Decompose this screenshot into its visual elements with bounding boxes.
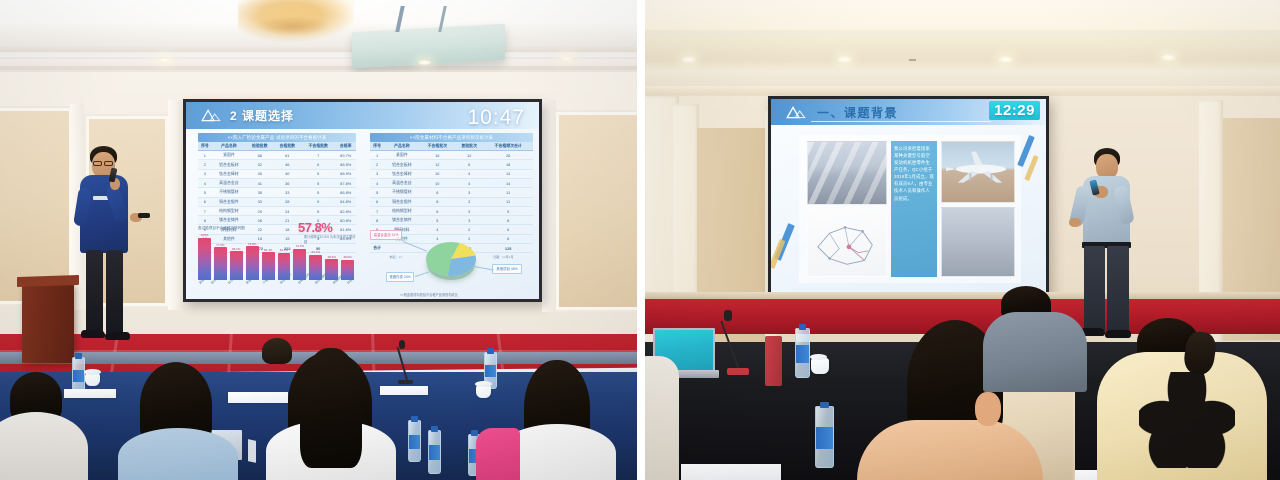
wall-pilaster bbox=[542, 100, 556, 312]
table-cell: 28 bbox=[274, 197, 301, 206]
water-bottle bbox=[72, 357, 85, 393]
table-cell: 80.8% bbox=[335, 216, 356, 225]
table-cell: 铝合金板材 bbox=[212, 160, 246, 169]
audience-white-sleeve bbox=[645, 356, 679, 480]
table-row: 3钛合金棒材10414 bbox=[370, 169, 533, 178]
table-caption-right: ××院金属材料不合格产品项目频次统计表 bbox=[370, 133, 533, 142]
table-cell: 28 bbox=[483, 151, 533, 160]
th: 检验批数 bbox=[246, 142, 273, 151]
water-bottle bbox=[815, 406, 834, 468]
table-cell: 5 bbox=[301, 197, 335, 206]
th: 产品名称 bbox=[212, 142, 246, 151]
table-cell: 镁合金铸件 bbox=[212, 216, 246, 225]
yellow-diagonal-stripe bbox=[1024, 155, 1038, 181]
table-cell: 4 bbox=[455, 169, 483, 178]
table-cell: 高温合金丝 bbox=[384, 179, 419, 188]
ceiling-trim bbox=[0, 52, 637, 57]
mountain-logo-icon bbox=[785, 105, 807, 120]
table-cell: 铝合金板材 bbox=[384, 160, 419, 169]
callout-leader bbox=[403, 241, 427, 251]
th: 产品名称 bbox=[384, 142, 419, 151]
table-cell: 5 bbox=[301, 188, 335, 197]
table-cell: 87.8% bbox=[335, 179, 356, 188]
table-cell: 82.8% bbox=[335, 206, 356, 215]
photo-engine-part bbox=[941, 207, 1015, 277]
ceiling-cove bbox=[645, 0, 1280, 30]
table-row: 2铝合金板材12618 bbox=[370, 160, 533, 169]
audience-hand bbox=[975, 392, 1001, 426]
table-cell: 14 bbox=[483, 179, 533, 188]
table-row: 7结构钢型材639 bbox=[370, 206, 533, 215]
table-row: 6铜合金锻件3328584.8% bbox=[198, 197, 356, 206]
bar-value-label: 48.0% bbox=[343, 255, 352, 259]
panel-divider bbox=[637, 0, 645, 480]
table-cell: 38 bbox=[246, 188, 273, 197]
table-cell: 21 bbox=[274, 216, 301, 225]
table-cell: 33 bbox=[246, 197, 273, 206]
highlight-note: 累计频率达57.8% 为本次改进主要问题 bbox=[304, 235, 358, 245]
table-cell: 88.9% bbox=[335, 169, 356, 178]
table-cell: 5 bbox=[370, 188, 384, 197]
table-cell: 26 bbox=[246, 216, 273, 225]
table-cell: 8 bbox=[420, 197, 455, 206]
audience-shirt-graphic bbox=[1139, 372, 1235, 468]
photo-aircraft bbox=[941, 141, 1015, 203]
aircraft-shape bbox=[942, 142, 1014, 202]
table-cell: 12 bbox=[455, 151, 483, 160]
table-row: 3钛合金棒材4540588.9% bbox=[198, 169, 356, 178]
table-cell: 89.7% bbox=[335, 151, 356, 160]
water-bottle bbox=[428, 430, 441, 474]
map-lines bbox=[808, 208, 886, 276]
table-cell: 4 bbox=[455, 179, 483, 188]
table-cell: 6 bbox=[370, 197, 384, 206]
pie-callout-1: 高温合金丝 31% bbox=[370, 230, 402, 240]
table-cell: 紧固件 bbox=[384, 151, 419, 160]
red-thermos bbox=[765, 336, 782, 386]
table-caption-left: ××院入厂检验金属产品·试验项目的不合格统计表 bbox=[198, 133, 356, 142]
th: 不合格批数 bbox=[301, 142, 335, 151]
table-row: 5不锈钢管材3833586.8% bbox=[198, 188, 356, 197]
table-cell: 5 bbox=[301, 206, 335, 215]
table-cell: 18 bbox=[483, 160, 533, 169]
projection-screen-right: 一、课题背景 12:29 bbox=[768, 96, 1049, 304]
table-cell: 5 bbox=[198, 188, 212, 197]
table-row: 2铝合金板材5246688.5% bbox=[198, 160, 356, 169]
table-cell: 41 bbox=[246, 179, 273, 188]
table-cell: 高温合金丝 bbox=[212, 179, 246, 188]
paper-document bbox=[380, 386, 428, 395]
projection-screen-left: 2 课题选择 10:47 ××院入厂检验金属产品·试验项目的不合格统计表 序号 … bbox=[183, 99, 542, 302]
table-cell: 10 bbox=[420, 169, 455, 178]
paper-document bbox=[64, 389, 116, 398]
bar bbox=[198, 238, 211, 280]
table-row: 4高温合金丝4136587.8% bbox=[198, 179, 356, 188]
th: 不合格批次 bbox=[420, 142, 455, 151]
tea-cup bbox=[811, 358, 829, 374]
table-cell: 紧固件 bbox=[212, 151, 246, 160]
bar-chart-axis-labels: 紧固件铝合金板材钛合金棒材高温合金丝不锈钢管材铜合金锻件结构钢型材镁合金铸件焊接… bbox=[198, 282, 354, 286]
presenter-clicker bbox=[138, 213, 150, 218]
downlight-icon bbox=[418, 60, 431, 65]
bar-value-label: 79.8% bbox=[248, 242, 257, 246]
table-cell: 45 bbox=[246, 169, 273, 178]
table-cell: 3 bbox=[455, 188, 483, 197]
table-cell: 6 bbox=[455, 160, 483, 169]
table-row: 1紧固件6861789.7% bbox=[198, 151, 356, 160]
paper-document bbox=[681, 464, 781, 480]
th: 不合格频次合计 bbox=[483, 142, 533, 151]
bar-value-label: 48.6% bbox=[327, 255, 336, 259]
table-row: 1紧固件161228 bbox=[370, 151, 533, 160]
water-bottle bbox=[408, 420, 421, 462]
table-cell: 7 bbox=[301, 151, 335, 160]
paper-document bbox=[228, 392, 288, 403]
table-row: 5不锈钢管材8311 bbox=[370, 188, 533, 197]
table-cell: 10 bbox=[420, 179, 455, 188]
table-cell: 6 bbox=[301, 160, 335, 169]
table-cell: 40 bbox=[274, 169, 301, 178]
callout-leader bbox=[415, 271, 430, 276]
table-cell: 钛合金棒材 bbox=[212, 169, 246, 178]
table-cell: 7 bbox=[370, 206, 384, 215]
table-cell: 不锈钢管材 bbox=[384, 188, 419, 197]
photo-mountain-machine bbox=[807, 141, 887, 205]
presenter-hand-clicker bbox=[1069, 218, 1081, 227]
slide-title-left: 2 课题选择 bbox=[230, 107, 294, 124]
mountain-logo-icon bbox=[200, 108, 222, 123]
audience-gray-shirt bbox=[983, 312, 1087, 392]
table-cell: 16 bbox=[420, 151, 455, 160]
slide-body-text: 我公司承担着国家某种关键型号航空发动机机匣零件生产任务，QC小组于2019年1月… bbox=[891, 141, 937, 277]
table-cell: 11 bbox=[483, 197, 533, 206]
th: 合格批数 bbox=[274, 142, 301, 151]
table-cell: 8 bbox=[198, 216, 212, 225]
table-cell: 61 bbox=[274, 151, 301, 160]
chandelier bbox=[238, 0, 354, 42]
presenter-shoe bbox=[1105, 330, 1131, 338]
bar-value-label: 60.2% bbox=[312, 250, 321, 254]
title-underline bbox=[811, 121, 991, 122]
wall-pilaster bbox=[168, 100, 182, 310]
glasses-icon bbox=[93, 161, 102, 166]
th: 复验批次 bbox=[455, 142, 483, 151]
th: 序号 bbox=[198, 142, 212, 151]
bar-value-label: 77.5% bbox=[216, 243, 225, 247]
presenter-shoe bbox=[105, 332, 130, 340]
table-cell: 不锈钢管材 bbox=[212, 188, 246, 197]
podium bbox=[22, 283, 74, 363]
bar-value-label: 68.2% bbox=[232, 247, 241, 251]
photo-panel-right: 一、课题背景 12:29 bbox=[645, 0, 1280, 480]
th: 序号 bbox=[370, 142, 384, 151]
audience-peach-top bbox=[857, 420, 1043, 480]
table-cell: 52 bbox=[246, 160, 273, 169]
table-cell: 铜合金锻件 bbox=[212, 197, 246, 206]
downlight-icon bbox=[998, 56, 1013, 63]
table-cell: 5 bbox=[301, 179, 335, 188]
table-header-row: 序号 产品名称 不合格批次 复验批次 不合格频次合计 bbox=[370, 142, 533, 151]
table-cell: 6 bbox=[198, 197, 212, 206]
table-cell: 68 bbox=[246, 151, 273, 160]
photo-panel-left: 2 课题选择 10:47 ××院入厂检验金属产品·试验项目的不合格统计表 序号 … bbox=[0, 0, 637, 480]
table-cell: 2 bbox=[198, 160, 212, 169]
table-row: 6铜合金锻件8311 bbox=[370, 197, 533, 206]
slide-clock-left: 10:47 bbox=[467, 106, 525, 130]
table-cell: 3 bbox=[455, 197, 483, 206]
slide-surface-left: 2 课题选择 10:47 ××院入厂检验金属产品·试验项目的不合格统计表 序号 … bbox=[186, 102, 539, 299]
table-cell: 5 bbox=[301, 169, 335, 178]
table-header-row: 序号 产品名称 检验批数 合格批数 不合格批数 合格率 bbox=[198, 142, 356, 151]
table-cell: 3 bbox=[455, 206, 483, 215]
downlight-icon bbox=[837, 56, 852, 63]
table-cell: 3 bbox=[198, 169, 212, 178]
glasses-icon bbox=[104, 161, 113, 166]
table-cell: 4 bbox=[370, 179, 384, 188]
wall-panel bbox=[556, 112, 637, 310]
table-cell: 1 bbox=[370, 151, 384, 160]
table-cell: 84.8% bbox=[335, 197, 356, 206]
presenter-leg bbox=[1107, 246, 1129, 334]
highlight-percentage: 57.8% bbox=[298, 220, 332, 235]
table-cell: 33 bbox=[274, 188, 301, 197]
ceiling-sensor bbox=[909, 59, 916, 61]
bar-value-label: 65.4% bbox=[264, 248, 273, 252]
presenter-leg bbox=[106, 250, 123, 336]
table-cell: 88.5% bbox=[335, 160, 356, 169]
table-cell: 9 bbox=[483, 206, 533, 215]
ceiling-trim-lower bbox=[0, 66, 637, 70]
bar-value-label: 100% bbox=[201, 233, 209, 237]
table-cell: 24 bbox=[274, 206, 301, 215]
table-cell: 钛合金棒材 bbox=[384, 169, 419, 178]
bar-value-label: 64.1% bbox=[280, 248, 289, 252]
tea-cup bbox=[85, 373, 100, 386]
table-cell: 8 bbox=[420, 188, 455, 197]
table-cell: 14 bbox=[483, 169, 533, 178]
table-cell: 7 bbox=[198, 206, 212, 215]
downlight-icon bbox=[158, 58, 171, 63]
screenshot-root: 2 课题选择 10:47 ××院入厂检验金属产品·试验项目的不合格统计表 序号 … bbox=[0, 0, 1280, 480]
table-cell: 29 bbox=[246, 206, 273, 215]
stage-edge-right bbox=[645, 292, 1280, 299]
ceiling-cove-trim bbox=[645, 30, 1280, 37]
table-cell: 12 bbox=[420, 160, 455, 169]
pie-chart bbox=[426, 242, 476, 276]
table-cell: 结构钢型材 bbox=[212, 206, 246, 215]
table-cell: 11 bbox=[483, 188, 533, 197]
tea-cup bbox=[476, 385, 491, 398]
audience-pink-sleeve bbox=[476, 428, 520, 480]
pie-chart-area: 高温合金丝 31% 紧固件类 24% 其他项目 45% ××院金属材料检验不合格… bbox=[368, 220, 536, 299]
table-row: 7结构钢型材2924582.8% bbox=[198, 206, 356, 215]
bar-value-label: 74.3% bbox=[296, 244, 305, 248]
table-cell: 46 bbox=[274, 160, 301, 169]
table-cell: 1 bbox=[198, 151, 212, 160]
pie-callout-2: 紧固件类 24% bbox=[386, 272, 414, 282]
table-cell: 铜合金锻件 bbox=[384, 197, 419, 206]
table-cell: 结构钢型材 bbox=[384, 206, 419, 215]
downlight-icon bbox=[560, 56, 573, 61]
downlight-icon bbox=[681, 56, 696, 63]
callout-leader bbox=[474, 266, 494, 270]
bar-item: 100% bbox=[198, 232, 211, 280]
pie-callout-3: 其他项目 45% bbox=[492, 264, 522, 274]
presenter-shoe bbox=[81, 330, 105, 338]
photo-network-map bbox=[807, 207, 887, 277]
presenter-leg bbox=[1084, 246, 1105, 332]
slide-clock-right: 12:29 bbox=[989, 101, 1040, 120]
table-cell: 3 bbox=[370, 169, 384, 178]
slide-title-right: 一、课题背景 bbox=[817, 104, 898, 121]
ceiling-molding bbox=[645, 86, 1280, 95]
water-bottle bbox=[795, 328, 810, 378]
table-cell: 2 bbox=[370, 160, 384, 169]
table-cell: 36 bbox=[274, 179, 301, 188]
laptop-lid-edge bbox=[248, 439, 256, 463]
projector-bracket bbox=[395, 6, 447, 32]
downlight-icon bbox=[1161, 54, 1176, 61]
table-cell: 6 bbox=[420, 206, 455, 215]
table-cell: 86.8% bbox=[335, 188, 356, 197]
presenter-leg bbox=[86, 250, 103, 334]
th: 合格率 bbox=[335, 142, 356, 151]
table-cell: 4 bbox=[198, 179, 212, 188]
pie-footnote: ××院金属材料检验不合格产品类别构成比 bbox=[400, 292, 458, 297]
table-row: 4高温合金丝10414 bbox=[370, 179, 533, 188]
slide-surface-right: 一、课题背景 12:29 bbox=[771, 99, 1046, 301]
